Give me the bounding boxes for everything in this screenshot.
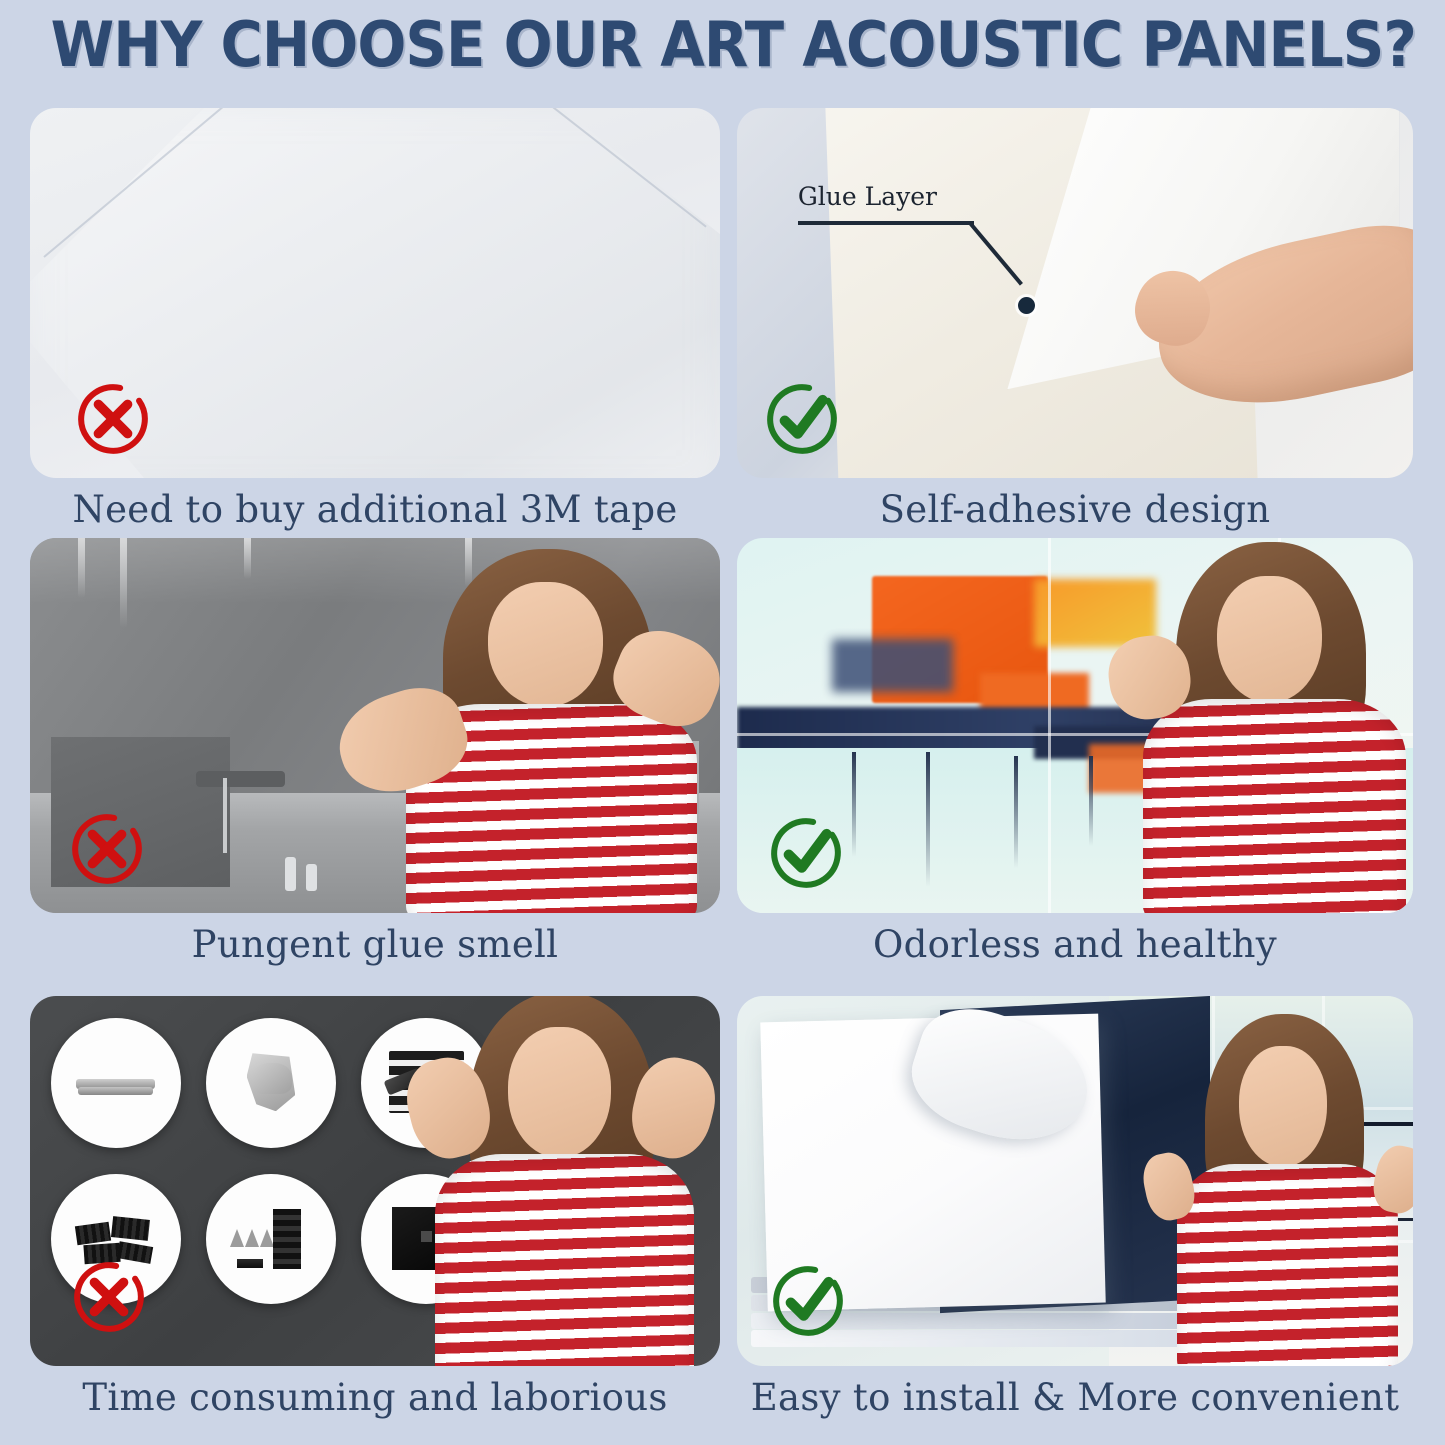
up-arrow xyxy=(260,1229,274,1247)
leader-dot xyxy=(1018,297,1035,314)
up-arrow xyxy=(245,1229,259,1247)
image-girl-covering-nose xyxy=(30,538,720,913)
single-panel xyxy=(237,1259,263,1267)
cell-easy-install: Easy to install & More convenient xyxy=(737,996,1413,1436)
striped-shirt xyxy=(1177,1164,1398,1366)
cross-badge xyxy=(66,1254,152,1340)
icon-art xyxy=(224,1036,318,1130)
bottle xyxy=(306,864,317,890)
panel-seam xyxy=(1048,538,1051,913)
hands xyxy=(252,1063,291,1095)
cross-badge xyxy=(70,376,156,462)
check-badge xyxy=(763,810,849,896)
girl-figure xyxy=(361,546,720,914)
up-arrow xyxy=(230,1229,244,1247)
icon-art xyxy=(224,1192,318,1286)
comparison-grid: Need to buy additional 3M tape Glue Laye… xyxy=(0,108,1445,1445)
check-badge xyxy=(765,1258,851,1344)
cell-time-consuming: Time consuming and laborious xyxy=(30,996,720,1436)
paint-drip xyxy=(852,752,856,857)
image-peel-and-stick xyxy=(737,996,1413,1366)
striped-shirt xyxy=(435,1154,693,1366)
cell-need-3m-tape: Need to buy additional 3M tape xyxy=(30,108,720,538)
hand-left xyxy=(398,1050,499,1166)
cell-pungent-smell: Pungent glue smell xyxy=(30,538,720,978)
caption-need-3m-tape: Need to buy additional 3M tape xyxy=(30,488,720,531)
foam-wedge xyxy=(75,1221,111,1244)
paint-drip xyxy=(1089,756,1093,846)
face xyxy=(488,582,604,707)
hands-on-temples xyxy=(409,1058,714,1158)
hand-right xyxy=(623,1050,720,1166)
panel-layer xyxy=(78,1087,153,1095)
stacking-arrows-icon xyxy=(206,1174,336,1304)
glue-layer-label: Glue Layer xyxy=(798,182,937,211)
face xyxy=(1239,1046,1327,1167)
check-badge xyxy=(759,376,845,462)
wiping-cloth-icon xyxy=(206,1018,336,1148)
image-six-install-steps xyxy=(30,996,720,1366)
leader-line-horizontal xyxy=(798,221,974,225)
girl-figure xyxy=(396,996,720,1366)
caption-time-consuming: Time consuming and laborious xyxy=(30,1376,720,1419)
art-navy-block xyxy=(832,639,954,692)
foam-wedge xyxy=(111,1216,150,1240)
caption-self-adhesive: Self-adhesive design xyxy=(737,488,1413,531)
wall-drip xyxy=(78,538,85,598)
paint-roller-head xyxy=(196,771,286,787)
girl-figure xyxy=(1102,538,1413,913)
striped-shirt xyxy=(1143,699,1407,913)
image-plain-white-panel xyxy=(30,108,720,478)
image-hand-peeling-backing: Glue Layer xyxy=(737,108,1413,478)
caption-odorless: Odorless and healthy xyxy=(737,923,1413,966)
paint-drip xyxy=(926,752,930,887)
foam-panel-stack-icon xyxy=(51,1018,181,1148)
infographic-root: WHY CHOOSE OUR ART ACOUSTIC PANELS? Need… xyxy=(0,0,1445,1445)
page-title: WHY CHOOSE OUR ART ACOUSTIC PANELS? xyxy=(51,8,1395,81)
caption-easy-install: Easy to install & More convenient xyxy=(737,1376,1413,1419)
paint-drip xyxy=(1014,756,1018,869)
wall-drip xyxy=(244,538,251,579)
foam-tower xyxy=(273,1209,301,1269)
wall-drip xyxy=(120,538,127,628)
girl-figure xyxy=(1143,1011,1413,1366)
paint-roller-handle xyxy=(223,778,227,853)
face xyxy=(1217,576,1322,704)
cell-self-adhesive: Glue Layer Self-adhesive design xyxy=(737,108,1413,538)
icon-art xyxy=(69,1036,163,1130)
image-girl-ok-sign-art-wall xyxy=(737,538,1413,913)
cross-badge xyxy=(64,806,150,892)
bottle xyxy=(285,857,296,891)
caption-pungent-smell: Pungent glue smell xyxy=(30,923,720,966)
cell-odorless: Odorless and healthy xyxy=(737,538,1413,978)
